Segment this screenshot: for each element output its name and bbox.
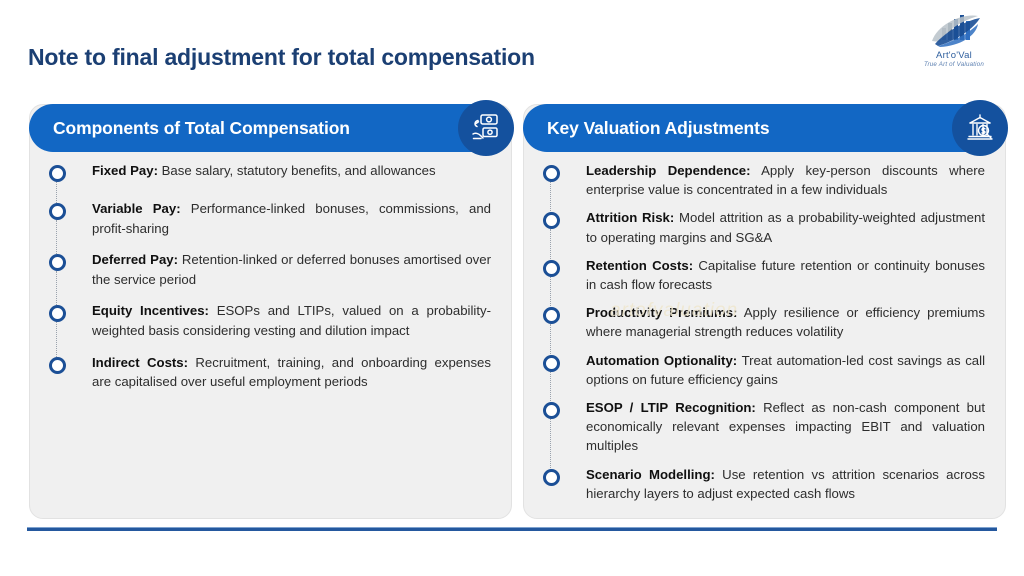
list-item-text: Automation Optionality: Treat automation…	[586, 351, 985, 389]
list-item: Productivity Premiums: Apply resilience …	[524, 303, 993, 341]
list-item-text: Productivity Premiums: Apply resilience …	[586, 303, 985, 341]
list-item-text: Deferred Pay: Retention-linked or deferr…	[92, 250, 491, 289]
list-item-label: Attrition Risk:	[586, 210, 674, 225]
card-header-right: Key Valuation Adjustments	[523, 104, 1006, 152]
logo-brand-name: Art'o'Val	[902, 51, 1006, 61]
bullet-marker-icon	[49, 203, 66, 220]
bullet-connector	[56, 322, 57, 356]
card-title-right: Key Valuation Adjustments	[547, 118, 769, 139]
bullet-marker-icon	[543, 260, 560, 277]
bullet-connector	[56, 182, 57, 203]
list-item-label: Retention Costs:	[586, 258, 693, 273]
bullet-connector	[550, 277, 551, 310]
bullet-connector	[56, 271, 57, 305]
list-item-label: Leadership Dependence:	[586, 163, 751, 178]
bullet-marker-icon	[543, 212, 560, 229]
list-item-text: Indirect Costs: Recruitment, training, a…	[92, 353, 491, 392]
list-item: Attrition Risk: Model attrition as a pro…	[524, 208, 993, 246]
bank-building-magnifier-icon	[952, 100, 1008, 156]
list-item: Deferred Pay: Retention-linked or deferr…	[30, 250, 499, 289]
page-title: Note to final adjustment for total compe…	[28, 44, 535, 71]
bullet-connector	[550, 419, 551, 472]
list-item: Retention Costs: Capitalise future reten…	[524, 256, 993, 294]
list-item-text: Attrition Risk: Model attrition as a pro…	[586, 208, 985, 246]
bullet-connector	[550, 324, 551, 357]
list-item-body: Base salary, statutory benefits, and all…	[158, 163, 436, 178]
list-item-label: ESOP / LTIP Recognition:	[586, 400, 756, 415]
bullet-marker-icon	[543, 469, 560, 486]
list-item-text: ESOP / LTIP Recognition: Reflect as non-…	[586, 398, 985, 456]
list-item: Scenario Modelling: Use retention vs att…	[524, 465, 993, 503]
bullet-marker-icon	[49, 254, 66, 271]
list-item-label: Productivity Premiums:	[586, 305, 737, 320]
hand-holding-money-icon	[458, 100, 514, 156]
bullet-marker-icon	[543, 402, 560, 419]
card-key-valuation-adjustments: Key Valuation Adjustments L	[523, 104, 1006, 519]
logo-mark-icon	[902, 10, 1006, 52]
list-adjustments: Leadership Dependence: Apply key-person …	[524, 161, 1007, 512]
list-item-label: Fixed Pay:	[92, 163, 158, 178]
bullet-connector	[550, 372, 551, 405]
list-item: Variable Pay: Performance-linked bonuses…	[30, 199, 499, 238]
list-item: Fixed Pay: Base salary, statutory benefi…	[30, 161, 499, 187]
list-item-label: Deferred Pay:	[92, 252, 178, 267]
card-title-left: Components of Total Compensation	[53, 118, 350, 139]
list-item: Indirect Costs: Recruitment, training, a…	[30, 353, 499, 392]
list-item-label: Indirect Costs:	[92, 355, 188, 370]
list-item: Leadership Dependence: Apply key-person …	[524, 161, 993, 199]
bullet-marker-icon	[543, 165, 560, 182]
bullet-marker-icon	[49, 357, 66, 374]
list-item-text: Variable Pay: Performance-linked bonuses…	[92, 199, 491, 238]
bullet-connector	[56, 220, 57, 254]
bullet-marker-icon	[49, 305, 66, 322]
list-item-label: Equity Incentives:	[92, 303, 209, 318]
bullet-marker-icon	[543, 307, 560, 324]
bullet-marker-icon	[49, 165, 66, 182]
list-components: Fixed Pay: Base salary, statutory benefi…	[30, 161, 513, 404]
bullet-marker-icon	[543, 355, 560, 372]
list-item-text: Fixed Pay: Base salary, statutory benefi…	[92, 161, 491, 181]
list-item-text: Retention Costs: Capitalise future reten…	[586, 256, 985, 294]
list-item-text: Scenario Modelling: Use retention vs att…	[586, 465, 985, 503]
bullet-connector	[550, 229, 551, 262]
logo-tagline: True Art of Valuation	[902, 61, 1006, 69]
list-item-label: Automation Optionality:	[586, 353, 737, 368]
list-item-label: Variable Pay:	[92, 201, 181, 216]
list-item: Automation Optionality: Treat automation…	[524, 351, 993, 389]
list-item-text: Leadership Dependence: Apply key-person …	[586, 161, 985, 199]
list-item-text: Equity Incentives: ESOPs and LTIPs, valu…	[92, 301, 491, 340]
bottom-divider	[27, 527, 997, 531]
card-header-left: Components of Total Compensation	[29, 104, 512, 152]
list-item: Equity Incentives: ESOPs and LTIPs, valu…	[30, 301, 499, 340]
brand-logo: Art'o'Val True Art of Valuation	[902, 10, 1006, 76]
card-components-of-total-compensation: Components of Total Compensation Fixed P…	[29, 104, 512, 519]
bullet-connector	[550, 182, 551, 215]
list-item: ESOP / LTIP Recognition: Reflect as non-…	[524, 398, 993, 456]
list-item-label: Scenario Modelling:	[586, 467, 715, 482]
